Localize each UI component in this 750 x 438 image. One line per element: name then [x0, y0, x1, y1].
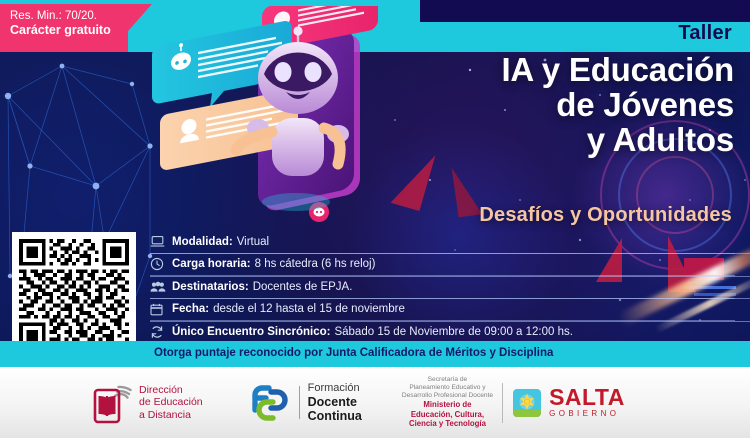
- sync-icon: [150, 325, 172, 339]
- title-line-3: y Adultos: [314, 122, 734, 157]
- detail-label: Modalidad:: [172, 236, 233, 248]
- page-subtitle: Desafíos y Oportunidades: [302, 204, 732, 227]
- page-title: IA y Educación de Jóvenes y Adultos: [314, 52, 734, 157]
- fdc-text: Formación Docente Continua: [308, 382, 362, 423]
- logo-salta-gobierno: SALTA GOBIERNO: [512, 386, 625, 419]
- detail-label: Carga horaria:: [172, 258, 251, 270]
- ministry-bot-3: Ciencia y Tecnología: [402, 419, 493, 428]
- detail-label: Destinatarios:: [172, 281, 249, 293]
- ministry-top-1: Secretaría de: [402, 376, 493, 384]
- salta-sub: GOBIERNO: [549, 409, 625, 419]
- divider: [299, 386, 300, 419]
- footer: Dirección de Educación a Distancia Forma…: [0, 367, 750, 438]
- fdc-line-2: Docente: [308, 395, 362, 409]
- ministry-top-3: Desarrollo Profesional Docente: [402, 392, 493, 400]
- clock-icon: [150, 257, 172, 271]
- dead-line-1: Dirección: [139, 384, 203, 397]
- detail-row-carga-horaria: Carga horaria: 8 hs cátedra (6 hs reloj): [150, 254, 735, 277]
- detail-row-destinatarios: Destinatarios: Docentes de EPJA.: [150, 276, 735, 299]
- accreditation-band: Otorga puntaje reconocido por Junta Cali…: [0, 341, 750, 367]
- laptop-icon: [150, 235, 172, 248]
- detail-label: Único Encuentro Sincrónico:: [172, 326, 330, 338]
- ministry-text: Secretaría de Planeamiento Educativo y D…: [402, 376, 493, 428]
- ministry-top-2: Planeamiento Educativo y: [402, 384, 493, 392]
- detail-value: Docentes de EPJA.: [253, 281, 353, 293]
- calendar-icon: [150, 303, 172, 316]
- detail-label: Fecha:: [172, 303, 209, 315]
- divider: [502, 383, 503, 423]
- separator-line-2: [150, 276, 750, 277]
- salta-sun-icon: [512, 388, 542, 418]
- poster: Res. Min.: 70/20. Carácter gratuito Tall…: [0, 0, 750, 438]
- title-line-2: de Jóvenes: [314, 87, 734, 122]
- logo-formacion-docente-continua: Formación Docente Continua: [249, 382, 362, 424]
- separator-line-4: [150, 321, 750, 322]
- qr-code[interactable]: [19, 239, 129, 349]
- ministry-bot-2: Educación, Cultura,: [402, 410, 493, 419]
- salta-text: SALTA GOBIERNO: [549, 386, 625, 419]
- detail-value: desde el 12 hasta el 15 de noviembre: [213, 303, 405, 315]
- dead-line-3: a Distancia: [139, 409, 203, 422]
- dead-text: Dirección de Educación a Distancia: [139, 384, 203, 422]
- accreditation-text: Otorga puntaje reconocido por Junta Cali…: [154, 347, 553, 359]
- book-wifi-icon: [92, 382, 132, 424]
- dead-line-2: de Educación: [139, 396, 203, 409]
- kicker-taller: Taller: [678, 22, 732, 45]
- salta-name: SALTA: [549, 386, 625, 409]
- detail-value: Sábado 15 de Noviembre de 09:00 a 12:00 …: [334, 326, 572, 338]
- title-line-1: IA y Educación: [314, 52, 734, 87]
- detail-row-modalidad: Modalidad: Virtual: [150, 231, 735, 254]
- fdc-monogram-icon: [249, 382, 291, 424]
- detail-row-fecha: Fecha: desde el 12 hasta el 15 de noviem…: [150, 299, 735, 322]
- detail-value: 8 hs cátedra (6 hs reloj): [255, 258, 376, 270]
- detail-value: Virtual: [237, 236, 269, 248]
- fdc-line-3: Continua: [308, 409, 362, 423]
- badge-line-1: Res. Min.: 70/20.: [10, 9, 152, 23]
- people-icon: [150, 281, 172, 293]
- logo-direccion-educacion-distancia: Dirección de Educación a Distancia: [92, 382, 203, 424]
- ministry-bot-1: Ministerio de: [402, 400, 493, 409]
- separator-line-1: [150, 253, 750, 254]
- top-navy-strip: [420, 0, 750, 22]
- qr-code-container[interactable]: [12, 232, 136, 356]
- details-list: Modalidad: Virtual Carga horaria: 8 hs c…: [150, 231, 735, 344]
- logo-ministerio: Secretaría de Planeamiento Educativo y D…: [402, 376, 493, 428]
- separator-line-3: [150, 298, 750, 299]
- fdc-line-1: Formación: [308, 382, 362, 395]
